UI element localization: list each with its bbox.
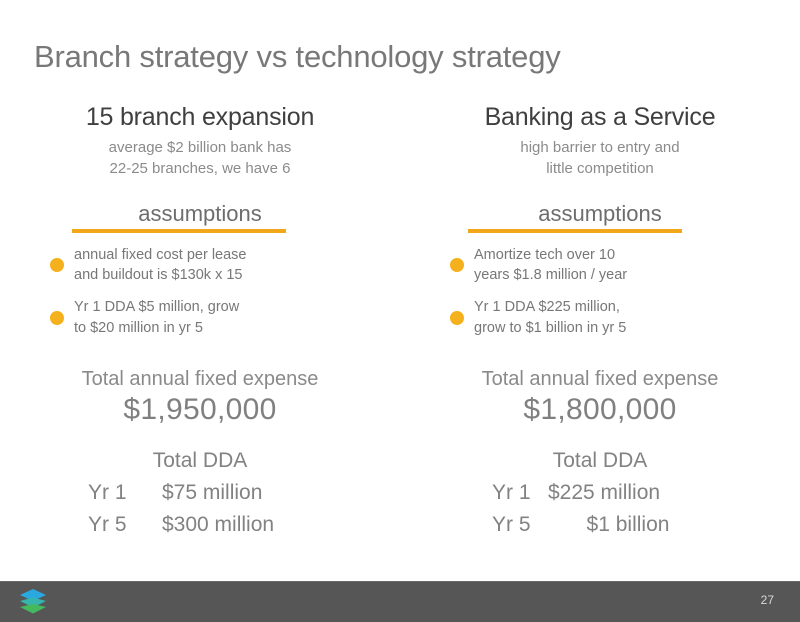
column-subtitle-line1: high barrier to entry and — [520, 137, 679, 158]
dda-amount: $300 million — [162, 509, 312, 541]
slide-canvas: Branch strategy vs technology strategy 1… — [0, 0, 800, 622]
page-number: 27 — [761, 593, 774, 607]
assumptions-underline — [468, 229, 682, 233]
dda-year: Yr 5 — [88, 509, 140, 541]
slide-footer: 27 — [0, 581, 800, 622]
bullet-text: Yr 1 DDA $5 million, grow to $20 million… — [74, 297, 239, 338]
column-banking-as-a-service: Banking as a Service high barrier to ent… — [400, 104, 800, 541]
dda-amount: $75 million — [162, 477, 312, 509]
assumptions-block: assumptions annual fixed cost per lease … — [50, 202, 350, 355]
dda-row: Yr 1 $75 million — [88, 477, 312, 509]
assumptions-underline — [72, 229, 286, 233]
assumptions-bullet-list: Amortize tech over 10 years $1.8 million… — [450, 245, 750, 338]
assumptions-label: assumptions — [50, 202, 350, 229]
dda-row: Yr 1 $225 million — [492, 477, 708, 509]
dda-rows: Yr 1 $225 million Yr 5 $1 billion — [492, 477, 708, 541]
total-expense-label: Total annual fixed expense — [82, 368, 319, 391]
bullet-line1: Yr 1 DDA $225 million, — [474, 297, 626, 318]
column-subtitle-line2: little competition — [520, 158, 679, 179]
dda-amount: $225 million — [548, 477, 708, 509]
bullet-line2: grow to $1 billion in yr 5 — [474, 318, 626, 339]
dda-amount: $1 billion — [548, 509, 708, 541]
bullet-text: annual fixed cost per lease and buildout… — [74, 245, 247, 286]
assumptions-block: assumptions Amortize tech over 10 years … — [450, 202, 750, 355]
total-expense-value: $1,950,000 — [123, 393, 276, 427]
dda-year: Yr 5 — [492, 509, 540, 541]
assumptions-bullet-list: annual fixed cost per lease and buildout… — [50, 245, 350, 338]
column-subtitle: average $2 billion bank has 22-25 branch… — [109, 137, 292, 180]
list-item: annual fixed cost per lease and buildout… — [50, 245, 350, 286]
bullet-dot-icon — [450, 311, 464, 325]
bullet-line1: annual fixed cost per lease — [74, 245, 247, 266]
total-expense-label: Total annual fixed expense — [482, 368, 719, 391]
list-item: Yr 1 DDA $5 million, grow to $20 million… — [50, 297, 350, 338]
bullet-line2: to $20 million in yr 5 — [74, 318, 239, 339]
page-title: Branch strategy vs technology strategy — [34, 39, 561, 75]
layers-stack-logo-icon — [18, 588, 48, 616]
bullet-text: Yr 1 DDA $225 million, grow to $1 billio… — [474, 297, 626, 338]
bullet-dot-icon — [50, 258, 64, 272]
dda-title: Total DDA — [553, 449, 648, 473]
dda-year: Yr 1 — [492, 477, 540, 509]
dda-row: Yr 5 $300 million — [88, 509, 312, 541]
total-expense-value: $1,800,000 — [523, 393, 676, 427]
bullet-dot-icon — [50, 311, 64, 325]
two-column-body: 15 branch expansion average $2 billion b… — [0, 104, 800, 541]
dda-row: Yr 5 $1 billion — [492, 509, 708, 541]
column-heading: Banking as a Service — [485, 104, 716, 131]
column-subtitle-line2: 22-25 branches, we have 6 — [109, 158, 292, 179]
assumptions-label: assumptions — [450, 202, 750, 229]
dda-year: Yr 1 — [88, 477, 140, 509]
column-branch-expansion: 15 branch expansion average $2 billion b… — [0, 104, 400, 541]
bullet-line1: Amortize tech over 10 — [474, 245, 627, 266]
bullet-line2: and buildout is $130k x 15 — [74, 265, 247, 286]
column-heading: 15 branch expansion — [86, 104, 314, 131]
bullet-line2: years $1.8 million / year — [474, 265, 627, 286]
dda-rows: Yr 1 $75 million Yr 5 $300 million — [88, 477, 312, 541]
bullet-dot-icon — [450, 258, 464, 272]
bullet-text: Amortize tech over 10 years $1.8 million… — [474, 245, 627, 286]
column-subtitle-line1: average $2 billion bank has — [109, 137, 292, 158]
bullet-line1: Yr 1 DDA $5 million, grow — [74, 297, 239, 318]
column-subtitle: high barrier to entry and little competi… — [520, 137, 679, 180]
list-item: Yr 1 DDA $225 million, grow to $1 billio… — [450, 297, 750, 338]
list-item: Amortize tech over 10 years $1.8 million… — [450, 245, 750, 286]
dda-title: Total DDA — [153, 449, 248, 473]
